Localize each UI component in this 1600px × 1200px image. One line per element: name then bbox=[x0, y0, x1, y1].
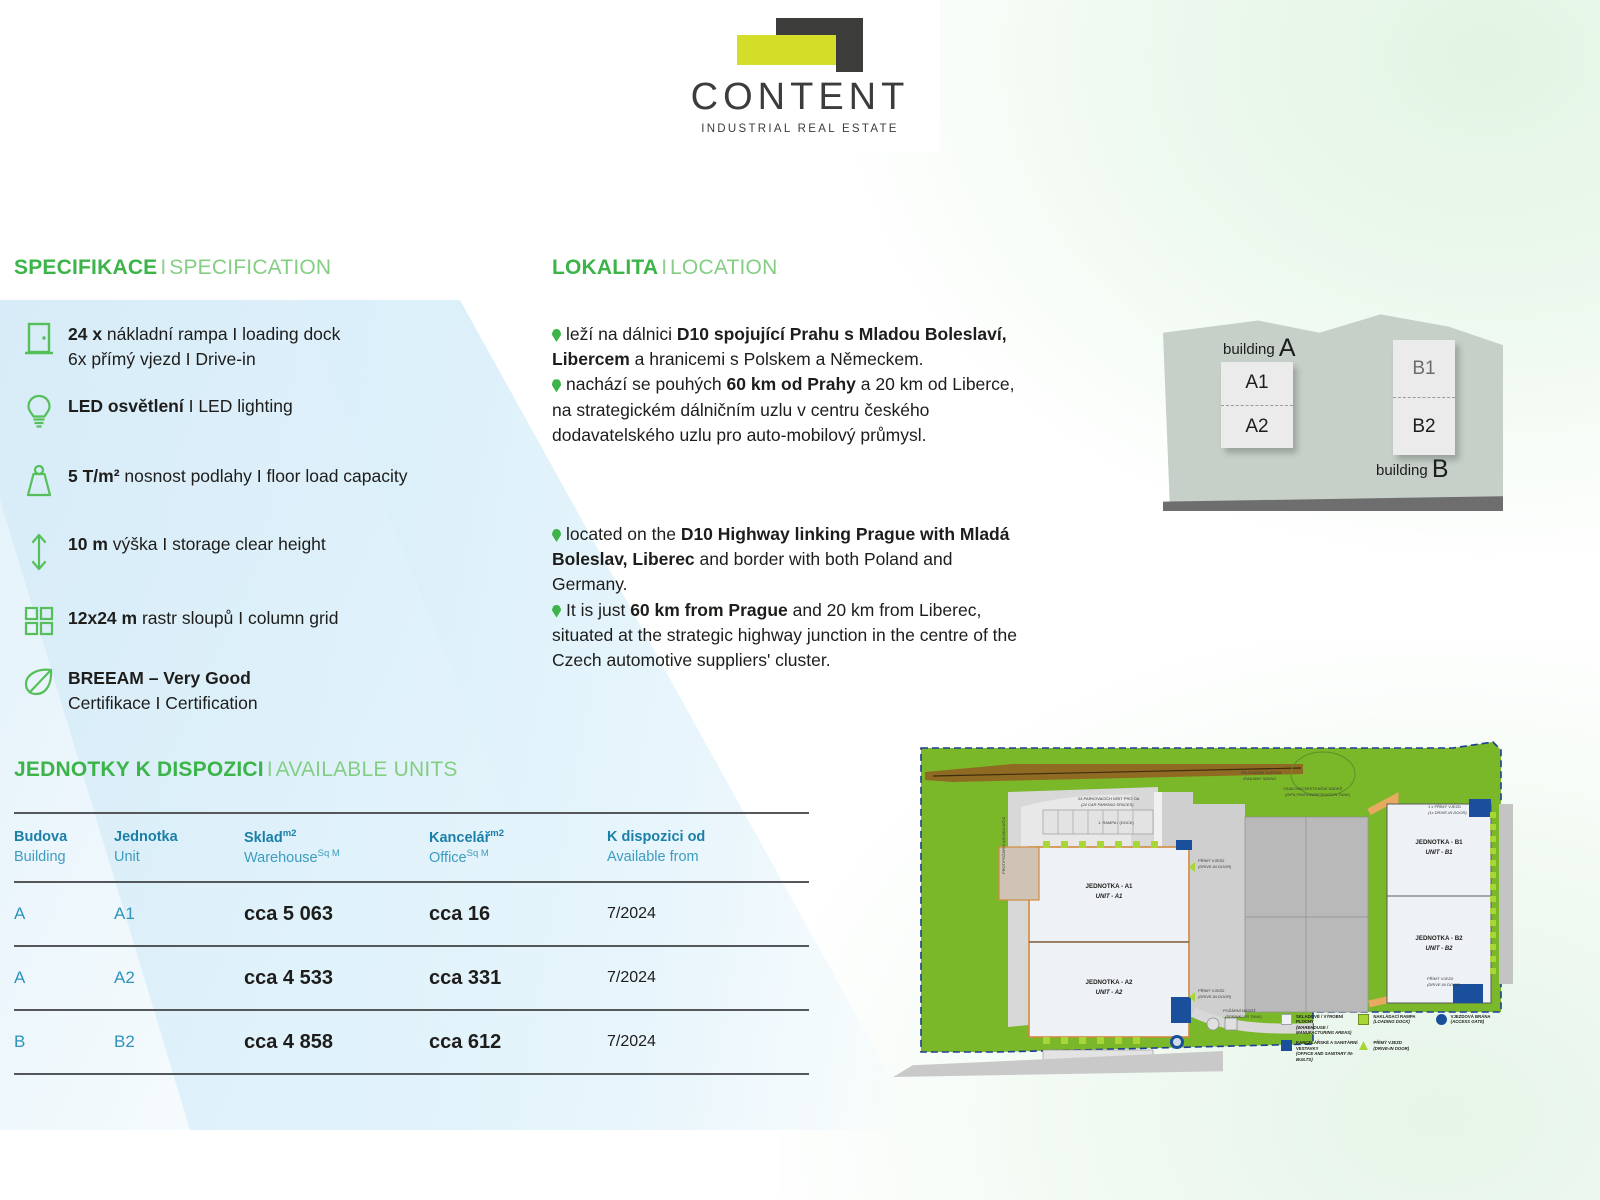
unit-b1-cell[interactable]: B1 bbox=[1393, 340, 1455, 398]
svg-text:(SPRINKLER TANK): (SPRINKLER TANK) bbox=[1225, 1014, 1262, 1019]
legend-drivein-cz: PŘÍMÝ VJEZD bbox=[1373, 1040, 1402, 1045]
grid-icon bbox=[10, 604, 68, 636]
cell-unit: A1 bbox=[114, 882, 244, 946]
spec-4-rest: rastr sloupů I column grid bbox=[137, 608, 338, 628]
specification-heading-separator: I bbox=[160, 256, 166, 279]
table-header-row: Budova Building Jednotka Unit Skladm2 Wa… bbox=[14, 813, 809, 882]
legend-dock-en: (LOADING DOCK) bbox=[1373, 1019, 1410, 1024]
building-a-prefix: building bbox=[1223, 341, 1275, 358]
legend-item-drive-in: PŘÍMÝ VJEZD (DRIVE-IN DOOR) bbox=[1358, 1040, 1435, 1061]
loc-cz-1-bold: 60 km od Prahy bbox=[727, 374, 856, 394]
building-a-letter: A bbox=[1279, 334, 1296, 362]
cell-warehouse: cca 4 533 bbox=[244, 946, 429, 1010]
spec-item-text: BREEAM – Very Good Certifikace I Certifi… bbox=[68, 664, 258, 716]
specification-heading-cz: SPECIFIKACE bbox=[14, 256, 157, 279]
legend-warehouse-cz: SKLADOVÉ / VÝROBNÍ PLOCHY bbox=[1296, 1014, 1343, 1024]
col-header-available-cz: K dispozici od bbox=[607, 828, 809, 848]
spec-1-bold: LED osvětlení bbox=[68, 396, 184, 416]
spec-3-bold: 10 m bbox=[68, 534, 108, 554]
svg-text:/RAILWAY SIDING: /RAILWAY SIDING bbox=[1242, 776, 1276, 781]
legend-swatch-office-icon bbox=[1281, 1040, 1292, 1051]
col-header-building-en: Building bbox=[14, 848, 114, 868]
col-header-unit: Jednotka Unit bbox=[114, 813, 244, 882]
legend-office-en: (OFFICE AND SANITARY IN-BUILTS) bbox=[1296, 1051, 1353, 1061]
location-cz-bullet-1: leží na dálnici D10 spojující Prahu s Ml… bbox=[552, 322, 1022, 372]
office-unit-sup-en: Sq M bbox=[467, 848, 489, 859]
legend-gate-cz: VJEZDOVÁ BRÁNA bbox=[1451, 1014, 1491, 1019]
spec-item-text: LED osvětlení I LED lighting bbox=[68, 392, 293, 419]
cell-building: A bbox=[14, 882, 114, 946]
location-heading-separator: I bbox=[661, 256, 667, 279]
cell-office: cca 612 bbox=[429, 1010, 607, 1074]
col-header-available: K dispozici od Available from bbox=[607, 813, 809, 882]
svg-text:(24 CAR PARKING SPACES): (24 CAR PARKING SPACES) bbox=[1081, 802, 1134, 807]
unit-b2-cell[interactable]: B2 bbox=[1393, 398, 1455, 455]
cell-building: A bbox=[14, 946, 114, 1010]
svg-text:(1x DRIVE-IN DOOR): (1x DRIVE-IN DOOR) bbox=[1428, 810, 1467, 815]
legend-gate-en: (ACCESS GATE) bbox=[1451, 1019, 1485, 1024]
spec-4-bold: 12x24 m bbox=[68, 608, 137, 628]
location-heading-cz: LOKALITA bbox=[552, 256, 658, 279]
loc-cz-0-pre: leží na dálnici bbox=[566, 324, 677, 344]
col-header-warehouse: Skladm2 WarehouseSq M bbox=[244, 813, 429, 882]
door-icon bbox=[10, 320, 68, 356]
brand-logo: CONTENT INDUSTRIAL REAL ESTATE bbox=[660, 0, 940, 152]
map-pin-icon bbox=[552, 379, 561, 392]
loc-en-1-bold: 60 km from Prague bbox=[630, 600, 788, 620]
table-row[interactable]: A A2 cca 4 533 cca 331 7/2024 bbox=[14, 946, 809, 1010]
svg-text:JEDNOTKA - A1: JEDNOTKA - A1 bbox=[1086, 883, 1134, 890]
location-cz-bullet-2: nachází se pouhých 60 km od Prahy a 20 k… bbox=[552, 372, 1022, 448]
col-header-building: Budova Building bbox=[14, 813, 114, 882]
unit-a1-cell[interactable]: A1 bbox=[1221, 362, 1293, 406]
site-plan-legend: SKLADOVÉ / VÝROBNÍ PLOCHY (WAREHOUSE / M… bbox=[1281, 1014, 1513, 1067]
weight-icon bbox=[10, 462, 68, 498]
col-header-warehouse-cz: Skladm2 bbox=[244, 828, 429, 848]
svg-text:UNIT - B1: UNIT - B1 bbox=[1426, 850, 1454, 856]
spec-item-text: 5 T/m² nosnost podlahy I floor load capa… bbox=[68, 462, 408, 489]
spec-2-bold: 5 T/m² bbox=[68, 466, 120, 486]
legend-row-1: SKLADOVÉ / VÝROBNÍ PLOCHY (WAREHOUSE / M… bbox=[1281, 1014, 1513, 1035]
location-en-bullet-2: It is just 60 km from Prague and 20 km f… bbox=[552, 598, 1022, 674]
available-units-heading: JEDNOTKY K DISPOZICIIAVAILABLE UNITS bbox=[14, 758, 458, 782]
legend-office-cz: KANCELÁŘSKÉ A SANITÁRNÍ VESTAVKY bbox=[1296, 1040, 1358, 1050]
col-header-unit-en: Unit bbox=[114, 848, 244, 868]
spec-2-rest: nosnost podlahy I floor load capacity bbox=[120, 466, 408, 486]
map-pin-icon bbox=[552, 529, 561, 542]
logo-wordmark: CONTENT bbox=[691, 78, 910, 116]
legend-item-warehouse: SKLADOVÉ / VÝROBNÍ PLOCHY (WAREHOUSE / M… bbox=[1281, 1014, 1358, 1035]
building-b-prefix: building bbox=[1376, 462, 1428, 479]
svg-text:PROTIPOŽÁRNÍ AKUMULAČNÍ: PROTIPOŽÁRNÍ AKUMULAČNÍ bbox=[1001, 816, 1006, 874]
office-unit-sup-cz: m2 bbox=[490, 828, 504, 839]
location-heading: LOKALITAILOCATION bbox=[552, 256, 777, 280]
col-header-unit-cz: Jednotka bbox=[114, 828, 244, 848]
specification-list: 24 x nákladní rampa I loading dock 6x př… bbox=[10, 320, 530, 741]
legend-warehouse-en: (WAREHOUSE / MANUFACTURING AREAS) bbox=[1296, 1025, 1351, 1035]
spec-5-line2: Certifikace I Certification bbox=[68, 693, 258, 713]
cell-office: cca 331 bbox=[429, 946, 607, 1010]
legend-item-access-gate: VJEZDOVÁ BRÁNA (ACCESS GATE) bbox=[1436, 1014, 1513, 1035]
spec-item-floor-load: 5 T/m² nosnost podlahy I floor load capa… bbox=[10, 462, 530, 498]
legend-text: VJEZDOVÁ BRÁNA (ACCESS GATE) bbox=[1451, 1014, 1491, 1025]
spec-item-clear-height: 10 m výška I storage clear height bbox=[10, 530, 530, 572]
specification-heading-en: SPECIFICATION bbox=[169, 256, 331, 279]
location-text-en: located on the D10 Highway linking Pragu… bbox=[552, 522, 1022, 673]
legend-dock-cz: NAKLÁDACÍ RAMPA bbox=[1373, 1014, 1415, 1019]
legend-swatch-drive-in-icon bbox=[1358, 1040, 1369, 1051]
spec-item-led-lighting: LED osvětlení I LED lighting bbox=[10, 392, 530, 430]
svg-text:JEDNOTKA - B2: JEDNOTKA - B2 bbox=[1415, 935, 1463, 942]
cell-available: 7/2024 bbox=[607, 946, 809, 1010]
legend-item-spacer bbox=[1436, 1040, 1513, 1061]
svg-text:(DRIVE-IN DOOR): (DRIVE-IN DOOR) bbox=[1427, 982, 1461, 987]
site-plan-map[interactable]: JEDNOTKA - A1 UNIT - A1 JEDNOTKA - A2 UN… bbox=[893, 712, 1513, 1077]
spec-0-line2: 6x přímý vjezd I Drive-in bbox=[68, 349, 256, 369]
table-row[interactable]: B B2 cca 4 858 cca 612 7/2024 bbox=[14, 1010, 809, 1074]
table-header: Budova Building Jednotka Unit Skladm2 Wa… bbox=[14, 813, 809, 882]
svg-text:PŘÍMÝ VJEZD: PŘÍMÝ VJEZD bbox=[1198, 858, 1225, 863]
location-text-cz: leží na dálnici D10 spojující Prahu s Ml… bbox=[552, 322, 1022, 448]
svg-text:JEDNOTKA - B1: JEDNOTKA - B1 bbox=[1415, 839, 1463, 846]
spec-5-bold: BREEAM – Very Good bbox=[68, 668, 251, 688]
unit-a2-cell[interactable]: A2 bbox=[1221, 406, 1293, 449]
legend-swatch-warehouse-icon bbox=[1281, 1014, 1292, 1025]
spec-1-rest: I LED lighting bbox=[184, 396, 293, 416]
spec-0-rest: nákladní rampa I loading dock bbox=[102, 324, 340, 344]
svg-text:1. RAMPA / (DOCK): 1. RAMPA / (DOCK) bbox=[1098, 820, 1134, 825]
spec-3-rest: výška I storage clear height bbox=[108, 534, 326, 554]
table-row[interactable]: A A1 cca 5 063 cca 16 7/2024 bbox=[14, 882, 809, 946]
svg-text:(DRIVE-IN DOOR): (DRIVE-IN DOOR) bbox=[1198, 864, 1232, 869]
logo-mark-icon bbox=[737, 18, 863, 72]
cell-office: cca 16 bbox=[429, 882, 607, 946]
legend-text: KANCELÁŘSKÉ A SANITÁRNÍ VESTAVKY (OFFICE… bbox=[1296, 1040, 1358, 1061]
spec-item-text: 24 x nákladní rampa I loading dock 6x př… bbox=[68, 320, 340, 372]
legend-text: PŘÍMÝ VJEZD (DRIVE-IN DOOR) bbox=[1373, 1040, 1409, 1051]
loc-cz-0-post: a hranicemi s Polskem a Německem. bbox=[630, 349, 924, 369]
svg-text:PŘÍMÝ VJEZD: PŘÍMÝ VJEZD bbox=[1427, 976, 1454, 981]
legend-row-2: KANCELÁŘSKÉ A SANITÁRNÍ VESTAVKY (OFFICE… bbox=[1281, 1040, 1513, 1061]
legend-swatch-loading-dock-icon bbox=[1358, 1014, 1369, 1025]
col-header-office-cz: Kancelářm2 bbox=[429, 828, 607, 848]
cell-unit: A2 bbox=[114, 946, 244, 1010]
spec-item-breeam: BREEAM – Very Good Certifikace I Certifi… bbox=[10, 664, 530, 716]
legend-swatch-access-gate-icon bbox=[1436, 1014, 1447, 1025]
cell-warehouse: cca 4 858 bbox=[244, 1010, 429, 1074]
legend-text: NAKLÁDACÍ RAMPA (LOADING DOCK) bbox=[1373, 1014, 1415, 1025]
legend-item-loading-dock: NAKLÁDACÍ RAMPA (LOADING DOCK) bbox=[1358, 1014, 1435, 1035]
location-heading-en: LOCATION bbox=[670, 256, 777, 279]
loc-cz-1-pre: nachází se pouhých bbox=[566, 374, 727, 394]
lightbulb-icon bbox=[10, 392, 68, 430]
cell-warehouse: cca 5 063 bbox=[244, 882, 429, 946]
spec-0-bold: 24 x bbox=[68, 324, 102, 344]
units-heading-en: AVAILABLE UNITS bbox=[276, 758, 458, 781]
spec-item-text: 12x24 m rastr sloupů I column grid bbox=[68, 604, 338, 631]
units-heading-separator: I bbox=[267, 758, 273, 781]
table-body: A A1 cca 5 063 cca 16 7/2024 A A2 cca 4 … bbox=[14, 882, 809, 1074]
loc-en-0-pre: located on the bbox=[566, 524, 681, 544]
spec-item-column-grid: 12x24 m rastr sloupů I column grid bbox=[10, 604, 530, 636]
loc-en-1-pre: It is just bbox=[566, 600, 630, 620]
map-pin-icon bbox=[552, 605, 561, 618]
building-a-label: building A bbox=[1223, 334, 1296, 363]
height-arrow-icon bbox=[10, 530, 68, 572]
available-units-table: Budova Building Jednotka Unit Skladm2 Wa… bbox=[14, 812, 809, 1075]
col-header-available-en: Available from bbox=[607, 848, 809, 868]
warehouse-unit-sup-cz: m2 bbox=[283, 828, 297, 839]
buildings-diagram: building A A1 A2 B1 B2 building B bbox=[1163, 300, 1503, 505]
svg-text:UNIT - A2: UNIT - A2 bbox=[1096, 990, 1123, 996]
legend-item-office: KANCELÁŘSKÉ A SANITÁRNÍ VESTAVKY (OFFICE… bbox=[1281, 1040, 1358, 1061]
svg-text:(DRIVE-IN DOOR): (DRIVE-IN DOOR) bbox=[1198, 994, 1232, 999]
cell-unit: B2 bbox=[114, 1010, 244, 1074]
col-header-office: Kancelářm2 OfficeSq M bbox=[429, 813, 607, 882]
svg-text:24 PARKOVACÍCH MÍST PRO OA: 24 PARKOVACÍCH MÍST PRO OA bbox=[1078, 796, 1140, 801]
svg-text:UNIT - B2: UNIT - B2 bbox=[1426, 946, 1454, 952]
building-b-letter: B bbox=[1432, 455, 1449, 483]
cell-building: B bbox=[14, 1010, 114, 1074]
col-header-warehouse-en: WarehouseSq M bbox=[244, 848, 429, 868]
building-b-box[interactable]: B1 B2 bbox=[1393, 340, 1455, 455]
specification-heading: SPECIFIKACEISPECIFICATION bbox=[14, 256, 331, 280]
svg-text:1 x PŘÍMÝ VJEZD: 1 x PŘÍMÝ VJEZD bbox=[1428, 804, 1461, 809]
svg-text:PŘÍMÝ VJEZD: PŘÍMÝ VJEZD bbox=[1198, 988, 1225, 993]
svg-text:UNIT - A1: UNIT - A1 bbox=[1096, 894, 1123, 900]
svg-text:POŽÁRNÍ NÁDRŽ: POŽÁRNÍ NÁDRŽ bbox=[1223, 1008, 1256, 1013]
building-a-box[interactable]: A1 A2 bbox=[1221, 362, 1293, 448]
svg-text:JEDNOTKA - A2: JEDNOTKA - A2 bbox=[1086, 979, 1134, 986]
units-heading-cz: JEDNOTKY K DISPOZICI bbox=[14, 758, 264, 781]
cell-available: 7/2024 bbox=[607, 1010, 809, 1074]
location-en-bullet-1: located on the D10 Highway linking Pragu… bbox=[552, 522, 1022, 598]
svg-text:(INFILTRATION/RETENTION TANK): (INFILTRATION/RETENTION TANK) bbox=[1285, 792, 1351, 797]
leaf-icon bbox=[10, 664, 68, 698]
col-header-office-en: OfficeSq M bbox=[429, 848, 607, 868]
svg-text:VSAKOVACÍ/RETENČNÍ NÁDRŽ: VSAKOVACÍ/RETENČNÍ NÁDRŽ bbox=[1283, 786, 1343, 791]
spec-item-text: 10 m výška I storage clear height bbox=[68, 530, 326, 557]
warehouse-unit-sup-en: Sq M bbox=[318, 848, 340, 859]
map-pin-icon bbox=[552, 329, 561, 342]
legend-drivein-en: (DRIVE-IN DOOR) bbox=[1373, 1046, 1409, 1051]
spec-item-loading-dock: 24 x nákladní rampa I loading dock 6x př… bbox=[10, 320, 530, 372]
legend-text: SKLADOVÉ / VÝROBNÍ PLOCHY (WAREHOUSE / M… bbox=[1296, 1014, 1358, 1035]
cell-available: 7/2024 bbox=[607, 882, 809, 946]
col-header-building-cz: Budova bbox=[14, 828, 114, 848]
building-b-label: building B bbox=[1376, 455, 1449, 484]
logo-tagline: INDUSTRIAL REAL ESTATE bbox=[701, 123, 899, 135]
svg-text:ŽELEZNIČNÍ VLEČKA: ŽELEZNIČNÍ VLEČKA bbox=[1241, 770, 1282, 775]
